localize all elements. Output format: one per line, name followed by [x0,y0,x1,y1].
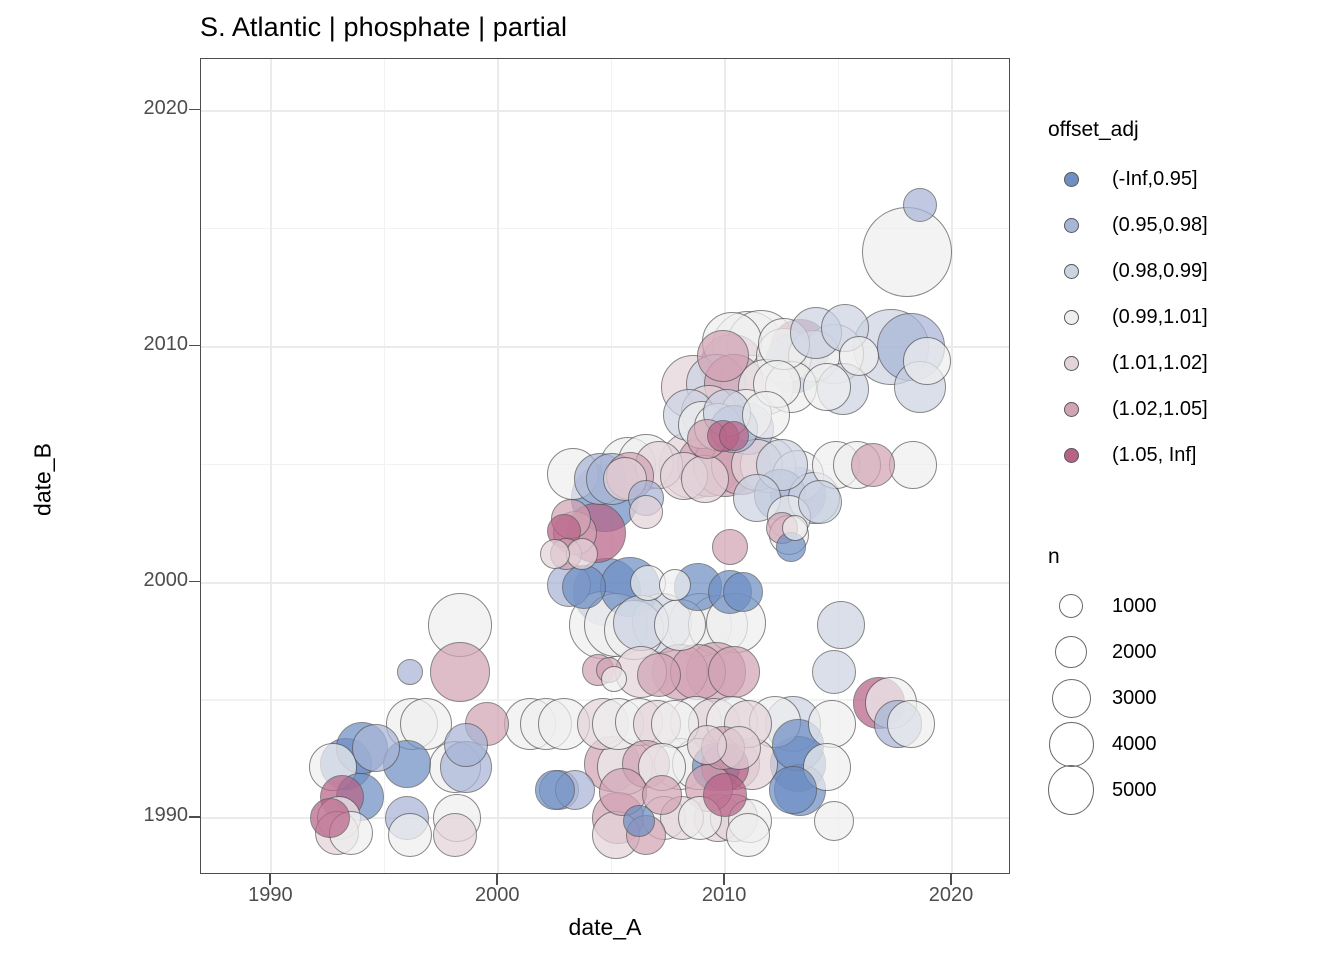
data-point [629,495,663,529]
legend-color-swatch [1064,172,1079,187]
data-point [887,700,935,748]
legend-item-offset-adj[interactable]: (1.05, Inf] [1048,432,1208,478]
gridline-vertical [270,59,272,873]
legend-item-label: (0.95,0.98] [1112,214,1208,237]
legend-item-label: 5000 [1112,779,1157,802]
y-tick-label: 1990 [144,804,189,827]
legend-offset-adj: offset_adj (-Inf,0.95](0.95,0.98](0.98,0… [1048,118,1208,478]
y-tick-label: 2020 [144,97,189,120]
legend-item-n[interactable]: 3000 [1048,675,1157,721]
legend-size-swatch [1048,765,1094,815]
legend-item-offset-adj[interactable]: (-Inf,0.95] [1048,156,1208,202]
legend-item-label: 1000 [1112,595,1157,618]
data-point [601,666,627,692]
legend-item-n[interactable]: 2000 [1048,629,1157,675]
legend-swatch-container [1048,264,1094,279]
data-point [659,569,691,601]
data-point [708,646,760,698]
legend-color-swatch [1064,218,1079,233]
y-tick-mark [189,109,200,111]
legend-item-label: (0.99,1.01] [1112,306,1208,329]
data-point [798,480,842,524]
legend-swatch-container [1048,765,1094,815]
legend-swatch-container [1048,636,1094,668]
gridline-horizontal [201,110,1009,112]
data-point [814,801,854,841]
data-point [703,773,747,817]
data-point [851,443,895,487]
data-point [540,539,570,569]
legend-n-title: n [1048,545,1157,569]
y-tick-mark [189,345,200,347]
legend-size-swatch [1059,594,1083,618]
legend-offset-adj-title: offset_adj [1048,118,1208,142]
data-point [397,659,423,685]
legend-size-swatch [1049,722,1094,767]
y-tick-label: 2000 [144,569,189,592]
legend-item-offset-adj[interactable]: (0.98,0.99] [1048,248,1208,294]
data-point [817,601,865,649]
plot-root: S. Atlantic | phosphate | partial 199020… [0,0,1344,960]
y-tick-label: 2010 [144,333,189,356]
data-point [697,330,749,382]
data-point [839,336,879,376]
legend-item-offset-adj[interactable]: (1.02,1.05] [1048,386,1208,432]
legend-n: n 10002000300040005000 [1048,545,1157,813]
legend-item-offset-adj[interactable]: (1.01,1.02] [1048,340,1208,386]
data-point [889,441,937,489]
legend-item-label: 3000 [1112,687,1157,710]
data-point [433,813,477,857]
data-point [862,207,952,297]
legend-item-label: 2000 [1112,641,1157,664]
data-point [723,572,763,612]
data-point [712,529,748,565]
chart-title: S. Atlantic | phosphate | partial [200,12,567,43]
legend-item-label: (0.98,0.99] [1112,260,1208,283]
y-tick-mark [189,581,200,583]
legend-color-swatch [1064,310,1079,325]
data-point [742,391,790,439]
legend-swatch-container [1048,402,1094,417]
gridline-vertical [497,59,499,873]
legend-color-swatch [1064,356,1079,371]
legend-swatch-container [1048,356,1094,371]
data-point [687,725,727,765]
plot-panel [200,58,1010,874]
legend-size-swatch [1055,636,1087,668]
legend-item-n[interactable]: 5000 [1048,767,1157,813]
x-tick-label: 2020 [929,884,974,907]
legend-swatch-container [1048,594,1094,618]
x-tick-label: 1990 [248,884,293,907]
y-tick-mark [189,816,200,818]
legend-item-n[interactable]: 1000 [1048,583,1157,629]
data-point [352,724,400,772]
x-tick-label: 2000 [475,884,520,907]
x-tick-label: 2010 [702,884,747,907]
data-point [812,650,856,694]
data-point [769,766,817,814]
legend-item-offset-adj[interactable]: (0.99,1.01] [1048,294,1208,340]
legend-item-label: 4000 [1112,733,1157,756]
legend-item-label: (1.05, Inf] [1112,444,1197,467]
data-point [388,813,432,857]
legend-item-label: (-Inf,0.95] [1112,168,1198,191]
data-point [535,770,575,810]
legend-color-swatch [1064,264,1079,279]
data-point [903,337,951,385]
gridline-vertical [951,59,953,873]
legend-item-label: (1.01,1.02] [1112,352,1208,375]
legend-item-label: (1.02,1.05] [1112,398,1208,421]
legend-item-n[interactable]: 4000 [1048,721,1157,767]
x-axis-title: date_A [200,914,1010,941]
legend-color-swatch [1064,402,1079,417]
data-point [623,805,655,837]
legend-color-swatch [1064,448,1079,463]
legend-swatch-container [1048,679,1094,718]
legend-swatch-container [1048,310,1094,325]
legend-item-offset-adj[interactable]: (0.95,0.98] [1048,202,1208,248]
data-point [637,653,681,697]
data-point [430,642,490,702]
legend-swatch-container [1048,172,1094,187]
legend-swatch-container [1048,218,1094,233]
data-point [681,455,729,503]
data-point [726,813,770,857]
legend-size-swatch [1052,679,1091,718]
data-point [808,700,856,748]
legend-swatch-container [1048,448,1094,463]
y-axis-title: date_B [30,180,57,780]
legend-swatch-container [1048,722,1094,767]
